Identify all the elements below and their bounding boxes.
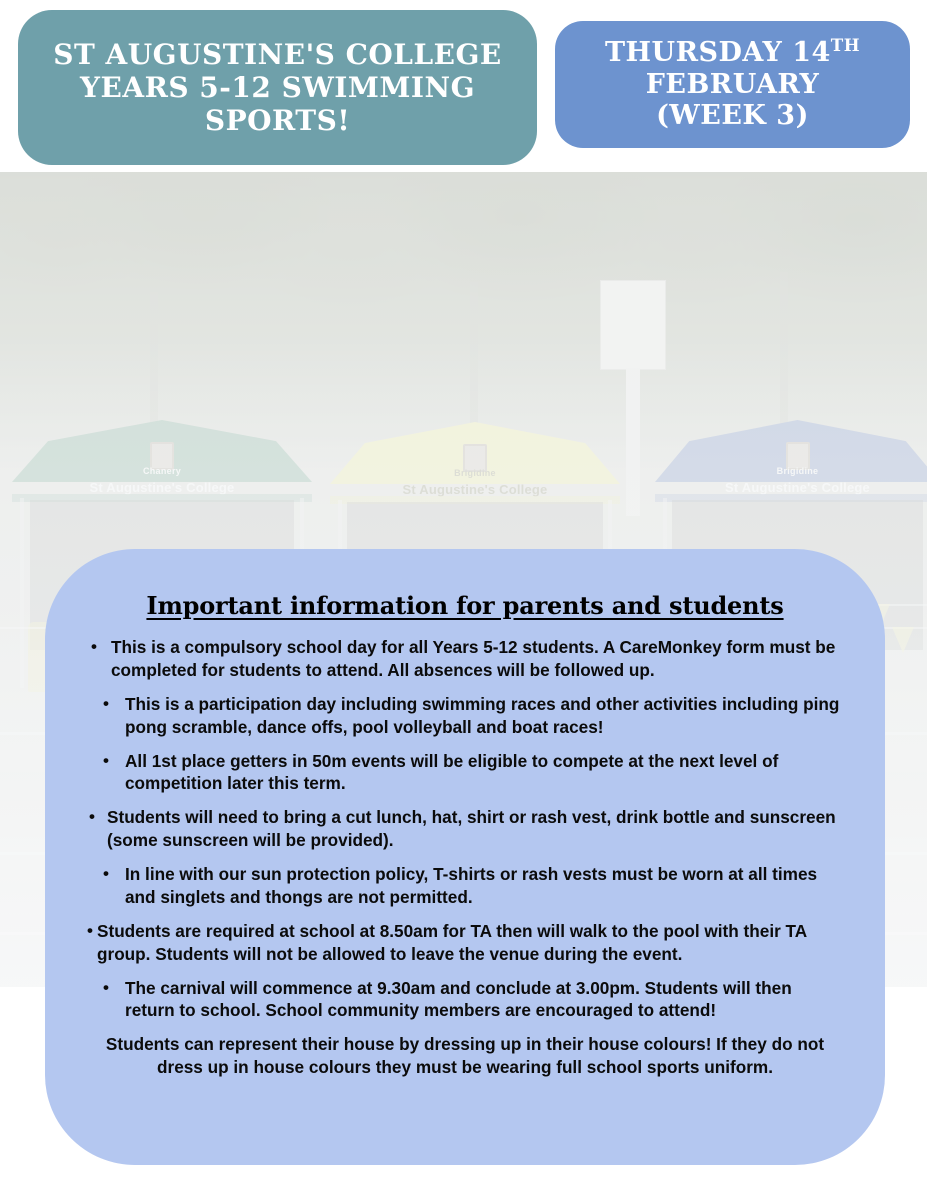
information-card: Important information for parents and st… xyxy=(45,549,885,1165)
bullet-item: •In line with our sun protection policy,… xyxy=(89,863,841,909)
card-title: Important information for parents and st… xyxy=(89,591,841,620)
bullet-text: This is a participation day including sw… xyxy=(125,693,841,739)
title-banner-text: St Augustine's College Years 5-12 Swimmi… xyxy=(53,38,502,137)
title-line-1: St Augustine's College xyxy=(53,38,502,71)
date-line-1: Thursday 14th xyxy=(605,37,860,69)
bullet-text: Students are required at school at 8.50a… xyxy=(97,920,841,966)
date-banner: Thursday 14th February (Week 3) xyxy=(555,21,910,148)
bullet-text: All 1st place getters in 50m events will… xyxy=(125,750,841,796)
bullet-item: •This is a participation day including s… xyxy=(89,693,841,739)
title-line-2: Years 5-12 Swimming xyxy=(53,71,502,104)
date-line-2: February xyxy=(605,69,860,101)
bullet-item: •The carnival will commence at 9.30am an… xyxy=(89,977,841,1023)
bullet-text: This is a compulsory school day for all … xyxy=(111,636,841,682)
scoreboard-post xyxy=(626,368,640,516)
tent-school-label: St Augustine's College xyxy=(655,480,927,495)
bullet-marker-icon: • xyxy=(103,750,109,773)
tent-house-label: Brigidine xyxy=(655,466,927,476)
bullet-marker-icon: • xyxy=(87,920,93,943)
title-line-3: Sports! xyxy=(53,104,502,137)
bullet-marker-icon: • xyxy=(89,806,95,829)
bullet-marker-icon: • xyxy=(91,636,97,659)
tent-school-label: St Augustine's College xyxy=(330,482,620,497)
tent-house-label: Brigidine xyxy=(330,468,620,478)
bullet-item: •This is a compulsory school day for all… xyxy=(89,636,841,682)
scoreboard-sign xyxy=(600,280,666,370)
information-bullet-list: •This is a compulsory school day for all… xyxy=(89,636,841,1022)
bullet-marker-icon: • xyxy=(103,863,109,886)
date-day-text: Thursday 14 xyxy=(605,37,831,68)
closing-paragraph: Students can represent their house by dr… xyxy=(89,1033,841,1079)
bullet-item: •Students are required at school at 8.50… xyxy=(89,920,841,966)
bullet-item: •All 1st place getters in 50m events wil… xyxy=(89,750,841,796)
poster-page: St Augustine's College Years 5-12 Swimmi… xyxy=(0,0,927,1200)
bullet-item: •Students will need to bring a cut lunch… xyxy=(89,806,841,852)
tent-house-label: Chanery xyxy=(12,466,312,476)
title-banner: St Augustine's College Years 5-12 Swimmi… xyxy=(18,10,537,165)
date-line-3: (Week 3) xyxy=(605,100,860,132)
bullet-marker-icon: • xyxy=(103,693,109,716)
date-ordinal-suffix: th xyxy=(831,35,860,55)
tent-school-label: St Augustine's College xyxy=(12,480,312,495)
tent-leg xyxy=(20,498,24,688)
bullet-text: Students will need to bring a cut lunch,… xyxy=(107,806,841,852)
bullet-marker-icon: • xyxy=(103,977,109,1000)
bullet-text: In line with our sun protection policy, … xyxy=(125,863,841,909)
bullet-text: The carnival will commence at 9.30am and… xyxy=(125,977,841,1023)
date-banner-text: Thursday 14th February (Week 3) xyxy=(605,37,860,133)
